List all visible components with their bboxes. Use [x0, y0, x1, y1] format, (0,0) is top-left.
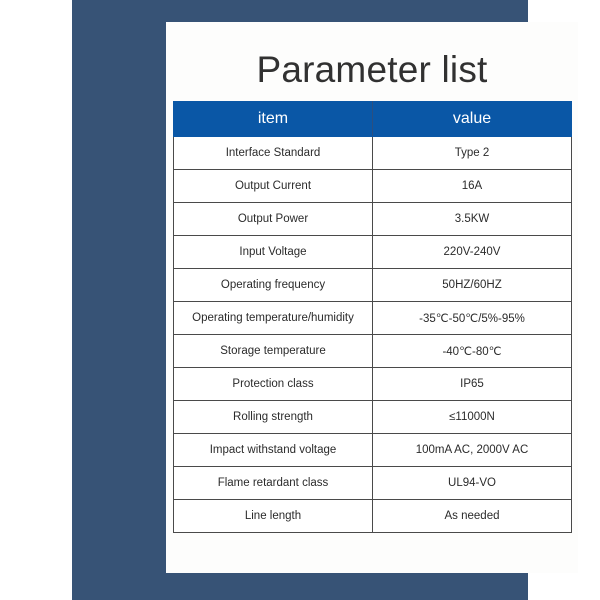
- cell-value: 50HZ/60HZ: [373, 269, 572, 302]
- cell-item: Interface Standard: [174, 137, 373, 170]
- cell-item: Storage temperature: [174, 335, 373, 368]
- cell-value: UL94-VO: [373, 467, 572, 500]
- cell-item: Rolling strength: [174, 401, 373, 434]
- cell-item: Operating temperature/humidity: [174, 302, 373, 335]
- column-header-item: item: [174, 102, 373, 137]
- table-row: Output Current16A: [174, 170, 572, 203]
- parameter-card: Parameter list item value Interface Stan…: [166, 22, 578, 573]
- page-root: Parameter list item value Interface Stan…: [0, 0, 600, 600]
- table-header: item value: [174, 102, 572, 137]
- table-row: Storage temperature-40℃-80℃: [174, 335, 572, 368]
- cell-item: Line length: [174, 500, 373, 533]
- cell-item: Output Power: [174, 203, 373, 236]
- table-row: Rolling strength≤11000N: [174, 401, 572, 434]
- cell-value: ≤11000N: [373, 401, 572, 434]
- cell-item: Input Voltage: [174, 236, 373, 269]
- cell-value: IP65: [373, 368, 572, 401]
- cell-item: Output Current: [174, 170, 373, 203]
- cell-value: Type 2: [373, 137, 572, 170]
- table-row: Impact withstand voltage100mA AC, 2000V …: [174, 434, 572, 467]
- decorative-frame-border: Parameter list item value Interface Stan…: [72, 0, 528, 600]
- cell-value: 220V-240V: [373, 236, 572, 269]
- cell-value: 3.5KW: [373, 203, 572, 236]
- cell-item: Protection class: [174, 368, 373, 401]
- cell-item: Impact withstand voltage: [174, 434, 373, 467]
- table-header-row: item value: [174, 102, 572, 137]
- table-row: Line lengthAs needed: [174, 500, 572, 533]
- table-row: Interface StandardType 2: [174, 137, 572, 170]
- table-row: Output Power3.5KW: [174, 203, 572, 236]
- cell-value: As needed: [373, 500, 572, 533]
- cell-value: -40℃-80℃: [373, 335, 572, 368]
- parameter-table: item value Interface StandardType 2Outpu…: [173, 101, 572, 533]
- table-row: Flame retardant classUL94-VO: [174, 467, 572, 500]
- table-body: Interface StandardType 2Output Current16…: [174, 137, 572, 533]
- cell-item: Flame retardant class: [174, 467, 373, 500]
- cell-value: 16A: [373, 170, 572, 203]
- table-row: Protection classIP65: [174, 368, 572, 401]
- cell-value: -35℃-50℃/5%-95%: [373, 302, 572, 335]
- column-header-value: value: [373, 102, 572, 137]
- page-title: Parameter list: [166, 48, 578, 92]
- table-row: Operating temperature/humidity-35℃-50℃/5…: [174, 302, 572, 335]
- table-row: Input Voltage220V-240V: [174, 236, 572, 269]
- cell-item: Operating frequency: [174, 269, 373, 302]
- table-row: Operating frequency50HZ/60HZ: [174, 269, 572, 302]
- cell-value: 100mA AC, 2000V AC: [373, 434, 572, 467]
